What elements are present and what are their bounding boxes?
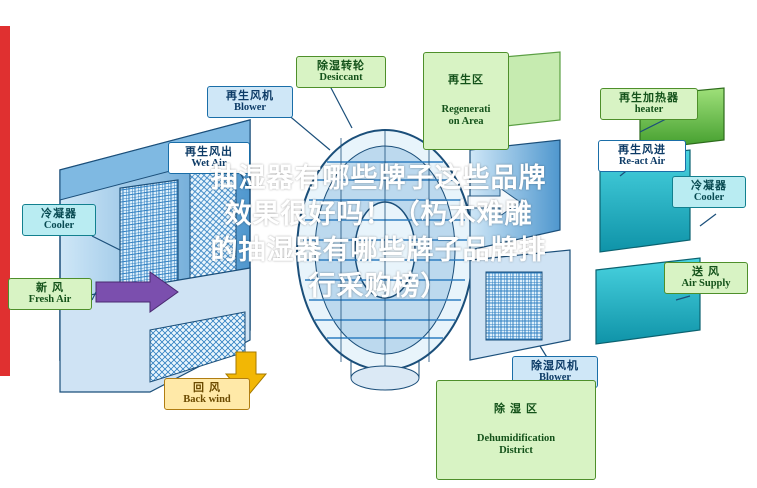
label-regeneration-blower-cn: 再生风机	[210, 90, 290, 102]
label-regeneration-heater-en: heater	[603, 104, 695, 116]
label-regeneration-blower: 再生风机 Blower	[207, 86, 293, 118]
dehumidifier-diagram: 除湿转轮 Desiccant 再生区 Regenerati on Area 再生…	[0, 0, 757, 488]
label-regeneration-area-en: Regenerati on Area	[426, 104, 506, 128]
label-regeneration-air-out-cn: 再生风出	[171, 146, 247, 158]
label-regeneration-area-cn: 再生区	[426, 74, 506, 86]
label-desiccant-wheel-cn: 除湿转轮	[299, 60, 383, 72]
label-desiccant-wheel: 除湿转轮 Desiccant	[296, 56, 386, 88]
label-dehumid-district-en: Dehumidification District	[439, 433, 593, 457]
label-dehumid-district-cn: 除 湿 区	[439, 403, 593, 415]
label-regeneration-air-in-cn: 再生风进	[601, 144, 683, 156]
label-back-wind: 回 风 Back wind	[164, 378, 250, 410]
label-regeneration-heater: 再生加热器 heater	[600, 88, 698, 120]
label-back-wind-en: Back wind	[167, 394, 247, 406]
overlay-title-text: 抽湿器有哪些牌子这些品牌 效果很好吗！（朽木难雕 的抽湿器有哪些牌子品牌排 行采…	[0, 160, 757, 304]
label-dehumid-district: 除 湿 区 Dehumidification District	[436, 380, 596, 480]
label-regeneration-blower-en: Blower	[210, 102, 290, 114]
label-desiccant-wheel-en: Desiccant	[299, 72, 383, 84]
label-regeneration-heater-cn: 再生加热器	[603, 92, 695, 104]
label-regeneration-area: 再生区 Regenerati on Area	[423, 52, 509, 150]
label-back-wind-cn: 回 风	[167, 382, 247, 394]
label-dehumid-blower-cn: 除湿风机	[515, 360, 595, 372]
